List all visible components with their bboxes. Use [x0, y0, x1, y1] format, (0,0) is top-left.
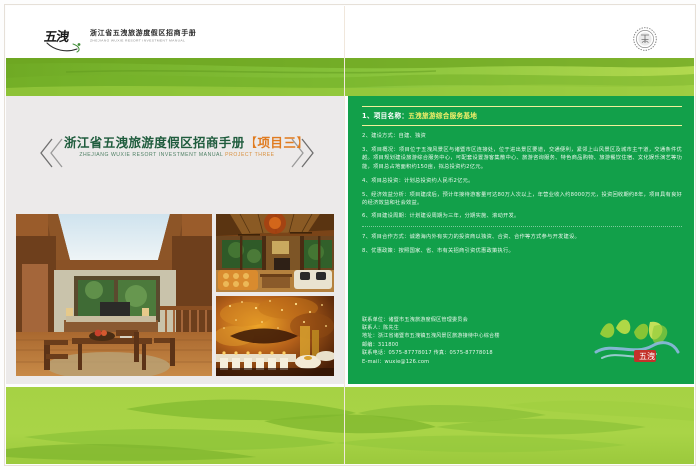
- photo-villa-dining-room-image: [16, 214, 212, 376]
- project-item-2: 2、建设方式：自建、独资: [362, 132, 682, 140]
- logo-mark-icon: 五洩: [44, 28, 84, 52]
- logo-swoosh-icon: [46, 41, 84, 53]
- contact-postcode: 邮编：311800: [362, 341, 572, 349]
- photo-cave-restaurant-image: [216, 296, 334, 376]
- project-item-7: 7、项目合作方式：诚邀海内外有实力的投资商以独资、合资、合作等方式参与开发建设。: [362, 233, 682, 241]
- logo-title-en: ZHEJIANG WUXIE RESORT INVESTMENT MANUAL: [90, 38, 196, 43]
- project-name-label: 1、项目名称：: [362, 112, 408, 120]
- svg-text:五洩: 五洩: [639, 351, 655, 361]
- project-item-6: 6、项目建设周期：计划建设周期为三年，分期实施、滚动开发。: [362, 212, 682, 220]
- page-title-bracket-close: 】: [296, 135, 309, 150]
- wuxie-brand-watermark-icon: 五洩: [590, 312, 686, 368]
- page-fold-line: [344, 6, 345, 464]
- contact-block: 联系单位：诸暨市五洩旅游度假区管理委员会 联系人：陈先生 地址：浙江省诸暨市五洩…: [362, 316, 572, 366]
- grass-field-decor-icon: [6, 387, 694, 464]
- page-title-bracket-open: 【: [245, 135, 258, 150]
- left-page: 浙江省五洩旅游度假区招商手册【项目三】 ZHEJIANG WUXIE RESOR…: [6, 96, 344, 384]
- page-subtitle: ZHEJIANG WUXIE RESORT INVESTMENT MANUAL …: [48, 152, 306, 158]
- contact-email: E-mail：wuxie@126.com: [362, 358, 572, 366]
- photo-villa-dining-room: [16, 214, 212, 376]
- page-subtitle-project: PROJECT THREE: [225, 152, 274, 158]
- circular-seal-icon: [632, 26, 658, 52]
- divider-under-title: [362, 125, 682, 126]
- project-item-5: 5、经济效益分析：项目建成后，预计年接待游客量可达80万人次以上，年营业收入约8…: [362, 191, 682, 207]
- contact-phone: 联系电话：0575-87778017 传真：0575-87778018: [362, 349, 572, 357]
- page-subtitle-main: ZHEJIANG WUXIE RESORT INVESTMENT MANUAL: [79, 152, 223, 158]
- brochure-spread: 浙江省五洩旅游度假区招商手册【项目三】 ZHEJIANG WUXIE RESOR…: [6, 96, 694, 384]
- photo-cave-restaurant: [216, 296, 334, 376]
- page-title-main: 浙江省五洩旅游度假区招商手册: [64, 135, 245, 150]
- project-item-4: 4、项目总投资：计划总投资约人民币2亿元。: [362, 177, 682, 185]
- photo-lounge-interior-image: [216, 214, 334, 292]
- grass-band-decor-icon: [6, 58, 694, 96]
- logo-text-group: 浙江省五洩旅游度假区招商手册 ZHEJIANG WUXIE RESORT INV…: [90, 29, 196, 44]
- contact-address: 地址：浙江省诸暨市五洩镇五洩风景区旅游接待中心综合楼: [362, 332, 572, 340]
- right-page: 1、项目名称：五洩旅游综合服务基地 2、建设方式：自建、独资 3、项目概况：项目…: [348, 96, 694, 384]
- brochure-page: 五洩 浙江省五洩旅游度假区招商手册 ZHEJIANG WUXIE RESORT …: [0, 0, 700, 470]
- project-name-value: 五洩旅游综合服务基地: [408, 112, 477, 120]
- project-item-8: 8、优惠政策：按照国家、省、市有关招商引资优惠政策执行。: [362, 247, 682, 255]
- photo-lounge-interior: [216, 214, 334, 292]
- divider-top: [362, 106, 682, 107]
- top-grass-band: [6, 58, 694, 96]
- brand-logo: 五洩 浙江省五洩旅游度假区招商手册 ZHEJIANG WUXIE RESORT …: [44, 28, 196, 52]
- page-title-project: 项目三: [258, 135, 297, 150]
- project-name-row: 1、项目名称：五洩旅游综合服务基地: [362, 111, 682, 121]
- contact-person: 联系人：陈先生: [362, 324, 572, 332]
- page-header: 五洩 浙江省五洩旅游度假区招商手册 ZHEJIANG WUXIE RESORT …: [6, 6, 694, 58]
- photo-group: [16, 214, 334, 376]
- bottom-grass-field: [6, 387, 694, 464]
- contact-unit: 联系单位：诸暨市五洩旅游度假区管理委员会: [362, 316, 572, 324]
- title-block: 浙江省五洩旅游度假区招商手册【项目三】 ZHEJIANG WUXIE RESOR…: [38, 126, 316, 180]
- dotted-divider: [362, 225, 682, 227]
- page-title: 浙江省五洩旅游度假区招商手册【项目三】: [64, 132, 290, 151]
- project-item-3: 3、项目概况：项目位于五洩风景区与诸暨市区连接处，位于进出景区要道，交通便利，紧…: [362, 146, 682, 171]
- logo-title-cn: 浙江省五洩旅游度假区招商手册: [90, 29, 196, 38]
